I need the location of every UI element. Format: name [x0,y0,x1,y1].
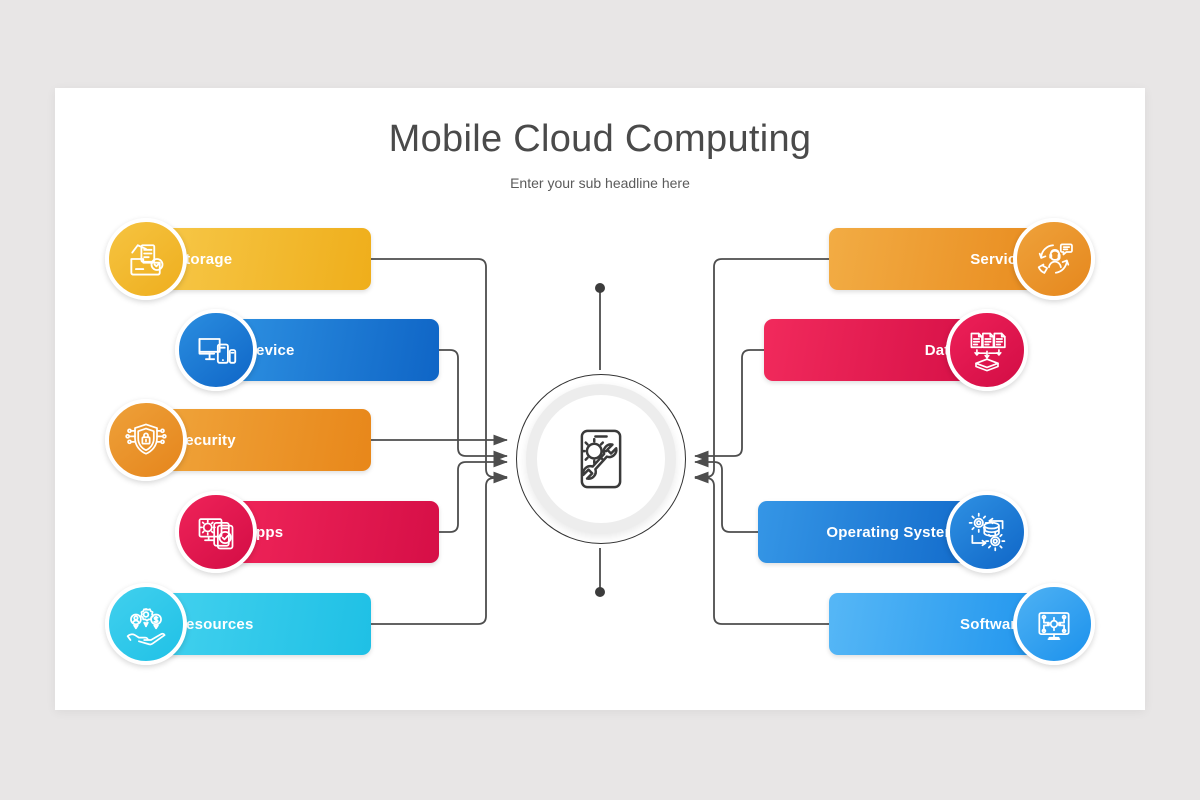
node-security[interactable]: Security [105,409,371,471]
wire-apps [439,462,507,532]
stub-dot-top [595,283,605,293]
node-data[interactable]: Data [764,319,1028,381]
app-gear-phone-icon [194,510,238,554]
slide-canvas: Mobile Cloud Computing Enter your sub he… [0,0,1200,800]
documents-folder-icon [124,237,168,281]
wire-data [695,350,764,456]
node-icon-data[interactable] [946,309,1028,391]
data-documents-icon [965,328,1009,372]
node-icon-operating-system[interactable] [946,491,1028,573]
software-monitor-icon [1032,602,1076,646]
hand-resources-icon [124,602,168,646]
hub-center[interactable] [526,384,676,534]
node-icon-security[interactable] [105,399,187,481]
node-icon-storage[interactable] [105,218,187,300]
node-operating-system[interactable]: Operating System [758,501,1028,563]
node-icon-service[interactable] [1013,218,1095,300]
node-storage[interactable]: Storage [105,228,371,290]
node-icon-device[interactable] [175,309,257,391]
node-service[interactable]: Service [829,228,1095,290]
node-icon-resources[interactable] [105,583,187,665]
mobile-settings-icon [565,423,637,495]
stub-dot-bottom [595,587,605,597]
os-gear-database-icon [965,510,1009,554]
node-icon-apps[interactable] [175,491,257,573]
customer-support-icon [1032,237,1076,281]
wire-operating-system [695,462,758,532]
node-resources[interactable]: Resources [105,593,371,655]
node-device[interactable]: Device [175,319,439,381]
node-apps[interactable]: Apps [175,501,439,563]
shield-lock-icon [124,418,168,462]
node-icon-software[interactable] [1013,583,1095,665]
node-software[interactable]: Software [829,593,1095,655]
devices-icon [194,328,238,372]
